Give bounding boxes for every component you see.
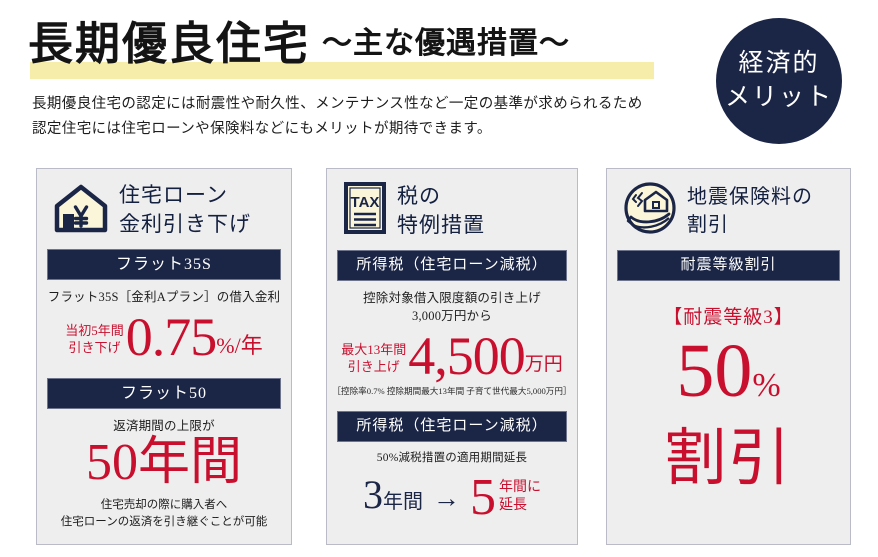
card-2-band-income-tax-2: 所得税（住宅ローン減税） [337, 411, 567, 442]
card-1-term-number: 50 [86, 434, 138, 491]
badge-line-1: 経済的 [738, 47, 819, 81]
card-2-note-1-line-1: 控除対象借入限度額の引き上げ [327, 289, 577, 307]
lead-line-1: 長期優良住宅の認定には耐震性や耐久性、メンテナンス性など一定の基準が求められるた… [32, 92, 643, 117]
hand-house-quake-icon [623, 181, 677, 240]
card-2-side-label: 最大13年間 引き上げ [341, 341, 406, 375]
card-2-extension-figure: 3年間 → 5 年間に 延長 [327, 472, 577, 524]
card-3-grade-label: 【耐震等級3】 [607, 305, 850, 331]
card-1-band-flat50: フラット50 [47, 378, 281, 409]
card-3-percent-unit: % [752, 367, 780, 404]
card-1-head: 住宅ローン 金利引き下げ [37, 169, 291, 243]
card-earthquake-insurance: 地震保険料の 割引 耐震等級割引 【耐震等級3】 50% 割引 [606, 168, 851, 545]
card-2-limit-number: 4,500 [408, 329, 525, 383]
card-2-to-unit-line-1: 年間に [499, 479, 541, 497]
card-3-title-line-2: 割引 [687, 211, 813, 239]
card-1-rate-side-label: 当初5年間 引き下げ [65, 322, 124, 356]
card-2-side-label-line-2: 引き上げ [341, 358, 406, 375]
card-2-fineprint: ［控除率0.7% 控除期間最大13年間 子育て世代最大5,000万円］ [327, 385, 577, 397]
card-1-note-1: フラット35S［金利Aプラン］の借入金利 [37, 288, 291, 306]
card-3-band-seismic-grade: 耐震等級割引 [617, 250, 840, 281]
tax-document-icon: TAX [343, 181, 387, 240]
economic-merit-badge: 経済的 メリット [716, 18, 842, 144]
card-2-from-number: 3 [363, 472, 383, 517]
card-1-rate-unit: %/年 [216, 332, 262, 360]
card-1-term-unit: 年間 [138, 434, 242, 491]
card-1-side-label-line-2: 引き下げ [65, 339, 124, 356]
badge-line-2: メリット [725, 81, 833, 115]
card-2-band-income-tax-1: 所得税（住宅ローン減税） [337, 250, 567, 281]
page-title: 長期優良住宅 〜主な優遇措置〜 [28, 18, 570, 70]
card-1-title: 住宅ローン 金利引き下げ [119, 181, 251, 239]
lead-paragraph: 長期優良住宅の認定には耐震性や耐久性、メンテナンス性など一定の基準が求められるた… [32, 92, 643, 142]
house-yen-icon [53, 182, 109, 239]
card-1-footnote-line-2: 住宅ローンの返済を引き継ぐことが可能 [37, 514, 291, 531]
card-1-side-label-line-1: 当初5年間 [65, 322, 124, 339]
card-2-head: TAX 税の 特例措置 [327, 169, 577, 244]
card-3-title-line-1: 地震保険料の [687, 183, 813, 211]
card-2-from-value: 3年間 [363, 473, 423, 524]
card-3-head: 地震保険料の 割引 [607, 169, 850, 244]
card-3-title: 地震保険料の 割引 [687, 183, 813, 239]
card-2-limit-figure: 最大13年間 引き上げ 4,500 万円 [327, 329, 577, 383]
title-sub-text: 〜主な優遇措置〜 [322, 18, 570, 70]
infographic-page: 長期優良住宅 〜主な優遇措置〜 長期優良住宅の認定には耐震性や耐久性、メンテナン… [0, 0, 878, 557]
arrow-right-icon: → [433, 478, 460, 518]
lead-line-2: 認定住宅には住宅ローンや保険料などにもメリットが期待できます。 [32, 117, 643, 142]
card-2-to-unit: 年間に 延長 [499, 479, 541, 515]
card-1-rate-figure: 当初5年間 引き下げ 0.75 %/年 [37, 310, 291, 364]
card-3-percent-number: 50 [676, 329, 752, 413]
card-1-term-figure: 50年間 [37, 435, 291, 491]
card-2-title-line-2: 特例措置 [397, 211, 485, 240]
card-2-side-label-line-1: 最大13年間 [341, 341, 406, 358]
card-tax-measures: TAX 税の 特例措置 所得税（住宅ローン減税） 控除対象借入限度額の引き上げ [326, 168, 578, 545]
card-2-to-number: 5 [470, 472, 496, 524]
header: 長期優良住宅 〜主な優遇措置〜 長期優良住宅の認定には耐震性や耐久性、メンテナン… [0, 0, 878, 160]
card-1-title-line-2: 金利引き下げ [119, 210, 251, 239]
card-2-note-1: 控除対象借入限度額の引き上げ 3,000万円から [327, 289, 577, 325]
card-2-to-unit-line-2: 延長 [499, 497, 541, 515]
card-1-footnote: 住宅売却の際に購入者へ 住宅ローンの返済を引き継ぐことが可能 [37, 497, 291, 531]
card-1-title-line-1: 住宅ローン [119, 181, 251, 210]
card-2-title-line-1: 税の [397, 182, 485, 211]
svg-text:TAX: TAX [351, 194, 380, 211]
card-1-band-flat35s: フラット35S [47, 249, 281, 280]
card-housing-loan: 住宅ローン 金利引き下げ フラット35S フラット35S［金利Aプラン］の借入金… [36, 168, 292, 545]
card-2-from-unit: 年間 [383, 491, 423, 513]
title-main-text: 長期優良住宅 [28, 18, 310, 70]
card-1-rate-number: 0.75 [126, 310, 217, 364]
card-2-limit-unit: 万円 [525, 351, 563, 379]
card-3-discount-text: 割引 [607, 426, 850, 492]
card-2-note-1-line-2: 3,000万円から [327, 307, 577, 325]
card-1-note-2: 返済期間の上限が [37, 417, 291, 435]
card-1-footnote-line-1: 住宅売却の際に購入者へ [37, 497, 291, 514]
card-2-note-2: 50%減税措置の適用期間延長 [327, 450, 577, 466]
card-3-percent-figure: 50% [607, 331, 850, 426]
benefit-cards: 住宅ローン 金利引き下げ フラット35S フラット35S［金利Aプラン］の借入金… [0, 168, 878, 550]
card-2-title: 税の 特例措置 [397, 182, 485, 240]
